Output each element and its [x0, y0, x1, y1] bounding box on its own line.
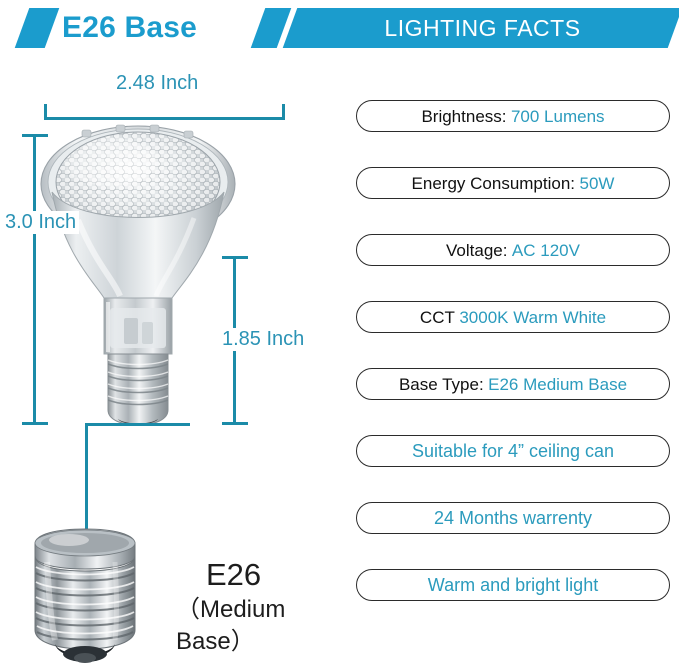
- dimension-label-width: 2.48 Inch: [113, 72, 201, 95]
- spec-value: Warm and bright light: [428, 576, 598, 594]
- spec-value: E26 Medium Base: [488, 376, 627, 393]
- par20-bulb-image: [38, 122, 238, 427]
- spec-pill-ceiling-can: Suitable for 4” ceiling can: [356, 435, 670, 467]
- spec-pill-energy-consumption: Energy Consumption: 50W: [356, 167, 670, 199]
- header-accent-slash-left: [15, 8, 60, 48]
- spec-value: 50W: [579, 175, 614, 192]
- page-header: E26 Base LIGHTING FACTS: [0, 0, 679, 56]
- spec-value: Suitable for 4” ceiling can: [412, 442, 614, 460]
- spec-pill-base-type: Base Type: E26 Medium Base: [356, 368, 670, 400]
- dimension-tick-body-bottom: [222, 422, 248, 425]
- base-caption-subtitle: （Medium Base）: [176, 594, 341, 658]
- spec-value: 3000K Warm White: [459, 309, 606, 326]
- spec-label: CCT: [420, 309, 455, 326]
- dimension-line-width: [44, 117, 285, 120]
- spec-pill-warranty: 24 Months warrenty: [356, 502, 670, 534]
- page-title: E26 Base: [62, 6, 197, 50]
- leader-line-horizontal: [85, 423, 190, 426]
- bulb-dimension-diagram: 2.48 Inch 3.0 Inch 1.85 Inch: [0, 56, 345, 623]
- base-caption: E26 （Medium Base）: [176, 556, 341, 658]
- spec-pill-brightness: Brightness: 700 Lumens: [356, 100, 670, 132]
- dimension-label-body: 1.85 Inch: [219, 328, 307, 351]
- e26-base-image: [27, 526, 143, 666]
- spec-value: 24 Months warrenty: [434, 509, 592, 527]
- dimension-tick-height-bottom: [22, 422, 48, 425]
- dimension-line-height: [33, 134, 36, 425]
- spec-pill-cct: CCT 3000K Warm White: [356, 301, 670, 333]
- spec-label: Base Type:: [399, 376, 484, 393]
- dimension-tick-width-left: [44, 104, 47, 120]
- spec-value: 700 Lumens: [511, 108, 605, 125]
- dimension-tick-width-right: [282, 104, 285, 120]
- dimension-tick-height-top: [22, 134, 48, 137]
- base-caption-title: E26: [176, 556, 341, 594]
- lighting-facts-list: Brightness: 700 Lumens Energy Consumptio…: [352, 96, 674, 616]
- spec-label: Energy Consumption:: [412, 175, 575, 192]
- lighting-facts-banner-label: LIGHTING FACTS: [290, 8, 675, 48]
- spec-label: Voltage:: [446, 242, 507, 259]
- spec-value: AC 120V: [512, 242, 580, 259]
- spec-pill-light-quality: Warm and bright light: [356, 569, 670, 601]
- spec-label: Brightness:: [421, 108, 506, 125]
- spec-pill-voltage: Voltage: AC 120V: [356, 234, 670, 266]
- leader-line-vertical: [85, 423, 88, 533]
- dimension-tick-body-top: [222, 256, 248, 259]
- dimension-label-height: 3.0 Inch: [2, 211, 79, 234]
